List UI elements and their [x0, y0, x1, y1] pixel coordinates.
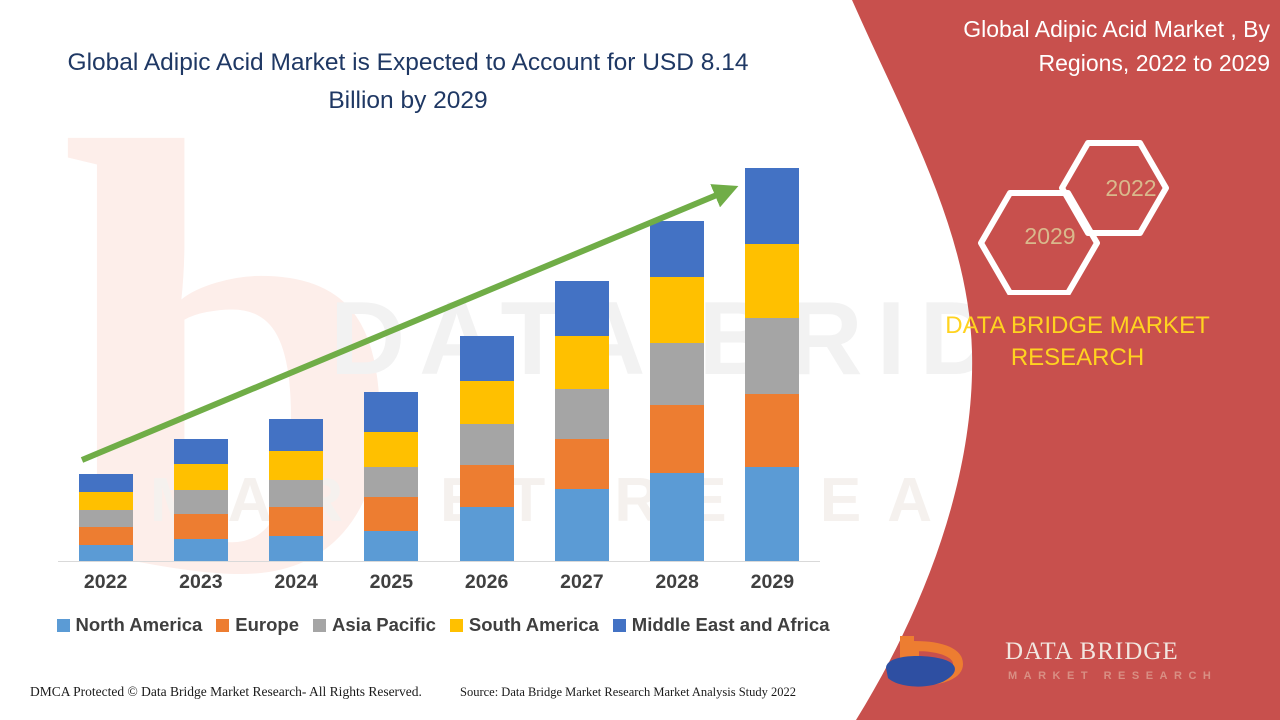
bar-segment[interactable]: [555, 389, 609, 438]
bar-stack[interactable]: [79, 474, 133, 561]
chart-panel: Global Adipic Acid Market is Expected to…: [0, 0, 870, 720]
hexagon-label-end: 2029: [1010, 223, 1090, 250]
bar-segment[interactable]: [364, 497, 418, 530]
bar-segment[interactable]: [364, 392, 418, 433]
bar-segment[interactable]: [269, 536, 323, 561]
logo-text-main: DATA BRIDGE: [1005, 638, 1179, 666]
bar-segment[interactable]: [364, 467, 418, 497]
bar-stack[interactable]: [174, 439, 228, 562]
bar-series-container: [58, 151, 820, 561]
bar-segment[interactable]: [460, 381, 514, 424]
legend-swatch: [450, 619, 463, 632]
bar-segment[interactable]: [269, 451, 323, 480]
red-panel-content: Global Adipic Acid Market , By Regions, …: [880, 0, 1280, 720]
bar-segment[interactable]: [745, 394, 799, 467]
x-axis-labels: 20222023202420252026202720282029: [58, 571, 820, 594]
company-logo: DATA BRIDGE MARKET RESEARCH: [880, 630, 1280, 700]
x-axis-tick: 2022: [79, 571, 133, 594]
bar-segment[interactable]: [174, 539, 228, 561]
bar-segment[interactable]: [79, 510, 133, 527]
legend-item[interactable]: Europe: [216, 614, 299, 636]
legend-item[interactable]: Asia Pacific: [313, 614, 436, 636]
bar-segment[interactable]: [650, 343, 704, 405]
bar-segment[interactable]: [460, 507, 514, 562]
legend-label: Asia Pacific: [332, 614, 436, 636]
x-axis-tick: 2024: [269, 571, 323, 594]
legend-label: North America: [76, 614, 203, 636]
bar-segment[interactable]: [650, 405, 704, 473]
bar-segment[interactable]: [79, 545, 133, 561]
bar-segment[interactable]: [269, 480, 323, 507]
bar-segment[interactable]: [745, 467, 799, 561]
bar-segment[interactable]: [650, 277, 704, 343]
bar-stack[interactable]: [364, 392, 418, 561]
bar-segment[interactable]: [460, 336, 514, 381]
legend-label: Middle East and Africa: [632, 614, 830, 636]
bar-segment[interactable]: [745, 318, 799, 393]
bar-segment[interactable]: [555, 439, 609, 489]
bar-stack[interactable]: [460, 336, 514, 561]
bar-segment[interactable]: [269, 507, 323, 535]
hexagon-group: 2022 2029: [970, 135, 1230, 300]
legend-item[interactable]: Middle East and Africa: [613, 614, 830, 636]
bar-segment[interactable]: [745, 244, 799, 318]
hexagon-label-start: 2022: [1091, 175, 1171, 202]
bar-segment[interactable]: [79, 492, 133, 511]
bar-stack[interactable]: [745, 168, 799, 561]
footer-source: Source: Data Bridge Market Research Mark…: [460, 685, 796, 700]
bar-segment[interactable]: [174, 439, 228, 464]
bar-segment[interactable]: [745, 168, 799, 244]
bar-segment[interactable]: [174, 514, 228, 539]
bar-segment[interactable]: [269, 419, 323, 451]
brand-name: DATA BRIDGE MARKET RESEARCH: [880, 310, 1275, 374]
bar-segment[interactable]: [364, 432, 418, 467]
bar-segment[interactable]: [79, 474, 133, 492]
bar-segment[interactable]: [650, 221, 704, 277]
bar-stack[interactable]: [269, 419, 323, 561]
x-axis-tick: 2029: [745, 571, 799, 594]
logo-text-sub: MARKET RESEARCH: [1008, 670, 1217, 682]
chart-title: Global Adipic Acid Market is Expected to…: [48, 44, 768, 120]
bar-segment[interactable]: [79, 527, 133, 545]
bar-stack[interactable]: [650, 221, 704, 561]
bar-segment[interactable]: [555, 489, 609, 561]
legend-swatch: [613, 619, 626, 632]
panel-title: Global Adipic Acid Market , By Regions, …: [900, 12, 1270, 80]
bar-segment[interactable]: [174, 490, 228, 514]
bar-segment[interactable]: [460, 465, 514, 507]
legend-label: Europe: [235, 614, 299, 636]
x-axis-tick: 2025: [364, 571, 418, 594]
plot-area: [58, 150, 820, 562]
legend-swatch: [216, 619, 229, 632]
hexagon-shapes: [970, 135, 1230, 295]
bar-segment[interactable]: [174, 464, 228, 490]
bar-segment[interactable]: [555, 336, 609, 390]
legend-swatch: [313, 619, 326, 632]
x-axis-tick: 2023: [174, 571, 228, 594]
x-axis-tick: 2026: [460, 571, 514, 594]
chart-legend: North AmericaEuropeAsia PacificSouth Ame…: [58, 614, 828, 636]
footer-copyright: DMCA Protected © Data Bridge Market Rese…: [30, 684, 422, 700]
legend-swatch: [57, 619, 70, 632]
x-axis-tick: 2027: [555, 571, 609, 594]
bar-segment[interactable]: [460, 424, 514, 465]
legend-item[interactable]: South America: [450, 614, 599, 636]
data-bridge-logo-icon: [880, 630, 1000, 696]
bar-segment[interactable]: [650, 473, 704, 561]
bar-segment[interactable]: [555, 281, 609, 336]
legend-item[interactable]: North America: [57, 614, 203, 636]
bar-stack[interactable]: [555, 281, 609, 561]
legend-label: South America: [469, 614, 599, 636]
x-axis-tick: 2028: [650, 571, 704, 594]
x-axis-line: [58, 561, 820, 562]
bar-segment[interactable]: [364, 531, 418, 561]
